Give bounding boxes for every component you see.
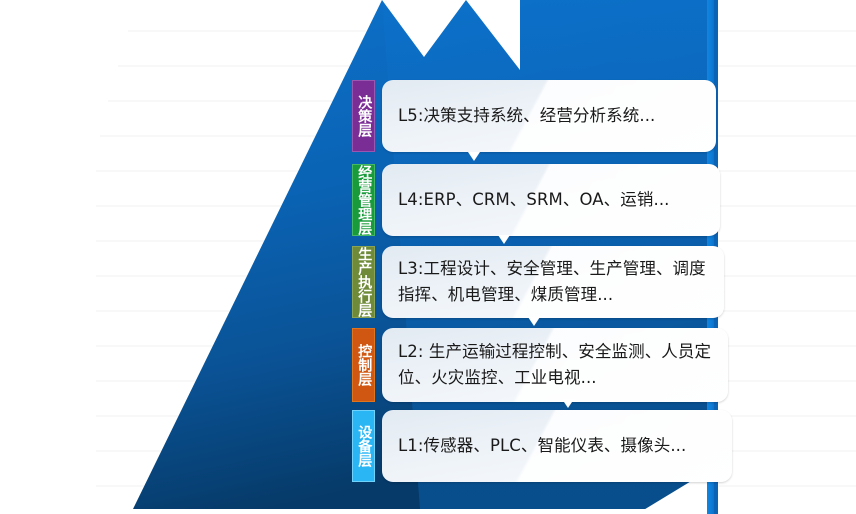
gap-arrow-icon-3 xyxy=(528,317,540,326)
layer-card-l2[interactable]: L2: 生产运输过程控制、安全监测、人员定位、火灾监控、工业电视... xyxy=(382,328,728,402)
layer-card-text-l3: L3:工程设计、安全管理、生产管理、调度指挥、机电管理、煤质管理... xyxy=(398,256,710,308)
layer-tag-l2[interactable]: 控制层 xyxy=(352,328,375,402)
layer-card-l1[interactable]: L1:传感器、PLC、智能仪表、摄像头... xyxy=(382,410,732,482)
gap-arrow-icon-1 xyxy=(468,152,480,161)
layer-card-text-l5: L5:决策支持系统、经营分析系统... xyxy=(398,103,655,129)
layer-card-text-l4: L4:ERP、CRM、SRM、OA、运销... xyxy=(398,187,670,213)
layer-card-l4[interactable]: L4:ERP、CRM、SRM、OA、运销... xyxy=(382,164,720,236)
layer-card-text-l1: L1:传感器、PLC、智能仪表、摄像头... xyxy=(398,433,686,459)
gap-arrow-icon-2 xyxy=(498,235,510,244)
layer-card-l3[interactable]: L3:工程设计、安全管理、生产管理、调度指挥、机电管理、煤质管理... xyxy=(382,246,724,318)
pyramid-infographic: 决策层 L5:决策支持系统、经营分析系统... 经营管理层 L4:ERP、CRM… xyxy=(0,0,856,514)
layer-tag-l3[interactable]: 生产执行层 xyxy=(352,246,375,318)
layer-tag-l1[interactable]: 设备层 xyxy=(352,410,375,482)
layer-card-text-l2: L2: 生产运输过程控制、安全监测、人员定位、火灾监控、工业电视... xyxy=(398,339,714,391)
gap-arrow-icon-4 xyxy=(562,399,574,408)
layer-card-l5[interactable]: L5:决策支持系统、经营分析系统... xyxy=(382,80,716,152)
layer-tag-l4[interactable]: 经营管理层 xyxy=(352,164,375,236)
layer-tag-l5[interactable]: 决策层 xyxy=(352,80,375,152)
